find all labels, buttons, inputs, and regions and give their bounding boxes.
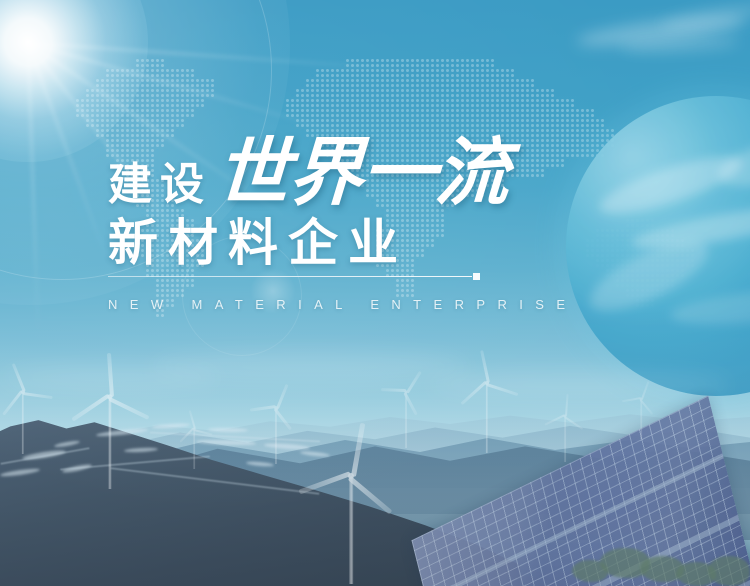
turbine-blade bbox=[544, 414, 565, 426]
headline-block: 建设 世界一流 新材料企业 bbox=[108, 132, 528, 270]
wind-turbine-icon bbox=[457, 383, 517, 453]
turbine-tower bbox=[193, 429, 195, 469]
shrub bbox=[708, 556, 750, 586]
headline-divider bbox=[108, 273, 480, 280]
wind-turbine-icon bbox=[164, 429, 224, 469]
headline-kicker: 建设 bbox=[108, 163, 212, 207]
turbine-hub bbox=[640, 398, 643, 401]
turbine-hub bbox=[21, 390, 25, 394]
shrub bbox=[572, 560, 608, 582]
turbine-hub bbox=[564, 415, 567, 418]
turbine-tower bbox=[275, 408, 277, 464]
hero-banner: 建设 世界一流 新材料企业 NEW MATERIAL ENTERPRISE bbox=[0, 0, 750, 586]
wind-turbine-icon bbox=[80, 397, 140, 489]
headline-line-1: 建设 世界一流 bbox=[108, 132, 528, 210]
turbine-blade bbox=[381, 389, 406, 392]
headline-line-2: 新材料企业 bbox=[108, 216, 528, 270]
wind-turbine-icon bbox=[535, 416, 595, 462]
turbine-tower bbox=[108, 397, 111, 489]
turbine-blade bbox=[193, 429, 212, 436]
wind-turbine-icon bbox=[376, 392, 436, 448]
turbine-blade bbox=[460, 381, 487, 405]
turbine-tower bbox=[564, 416, 566, 462]
divider-line bbox=[108, 276, 472, 278]
wind-turbine-icon bbox=[246, 408, 306, 464]
headline-emphasis: 世界一流 bbox=[214, 136, 510, 210]
turbine-blade bbox=[23, 392, 53, 399]
turbine-tower bbox=[349, 476, 353, 584]
turbine-hub bbox=[348, 473, 354, 479]
wind-turbine-icon bbox=[611, 399, 671, 439]
turbine-tower bbox=[640, 399, 642, 439]
divider-end-cap bbox=[473, 273, 480, 280]
headline-subtitle: NEW MATERIAL ENTERPRISE bbox=[108, 297, 577, 312]
turbine-hub bbox=[274, 406, 278, 410]
wind-turbine-icon bbox=[321, 476, 381, 584]
turbine-blade bbox=[564, 416, 584, 430]
turbine-hub bbox=[193, 428, 196, 431]
turbine-tower bbox=[486, 383, 488, 453]
turbine-blade bbox=[486, 383, 518, 396]
turbine-blade bbox=[2, 390, 23, 416]
turbine-tower bbox=[22, 392, 24, 454]
turbine-hub bbox=[485, 381, 489, 385]
wind-turbine-icon bbox=[0, 392, 53, 454]
